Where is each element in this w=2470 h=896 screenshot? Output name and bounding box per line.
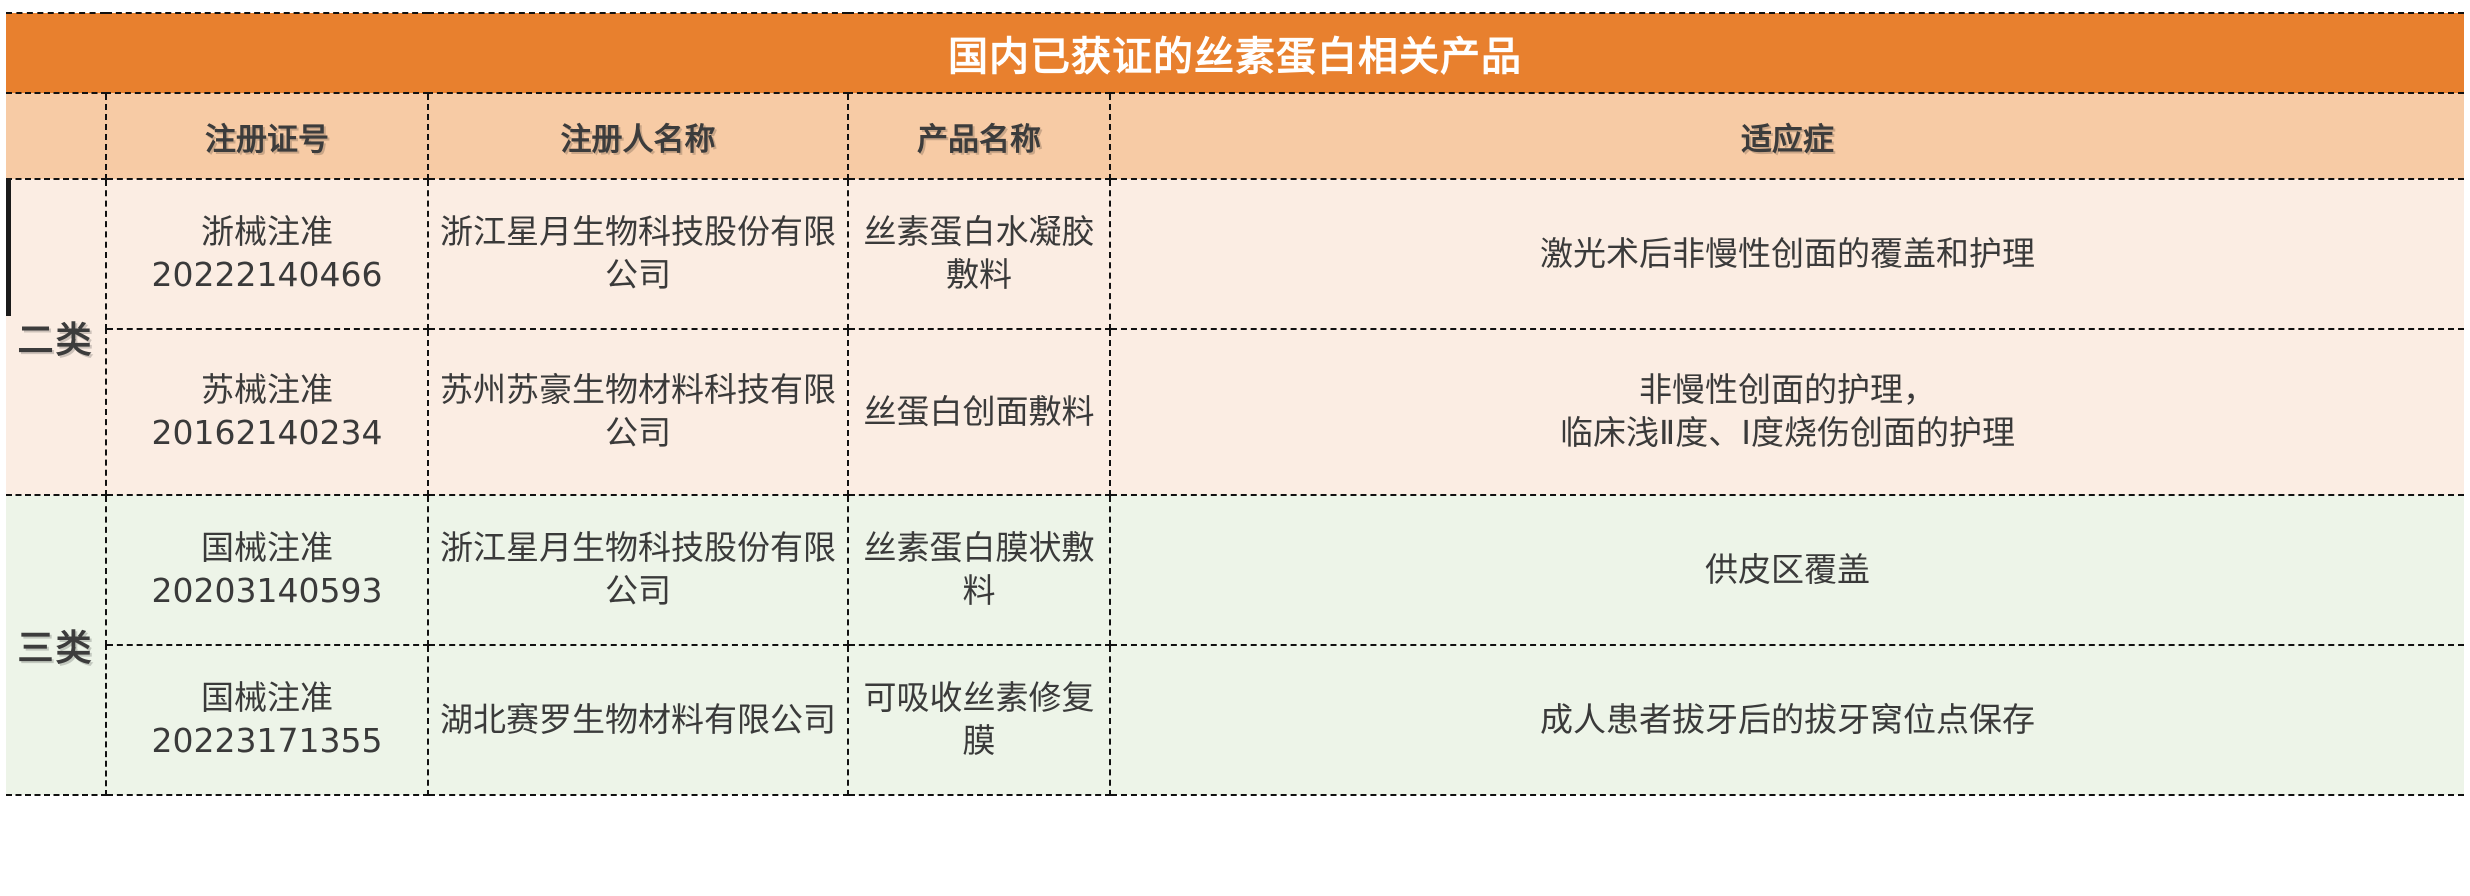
table-header-row: 注册证号 注册人名称 产品名称 适应症 — [6, 93, 2464, 179]
indication-line-1: 成人患者拔牙后的拔牙窝位点保存 — [1121, 699, 2454, 742]
product-table-container: 国内已获证的丝素蛋白相关产品 注册证号 注册人名称 产品名称 适应症 二类 浙械… — [0, 12, 2470, 896]
table-title-row: 国内已获证的丝素蛋白相关产品 — [6, 13, 2464, 93]
cell-registration-no: 国械注准20223171355 — [106, 645, 428, 795]
category-label-class-3: 三类 — [6, 495, 106, 795]
indication-line-1: 非慢性创面的护理， — [1121, 369, 2454, 412]
cell-indication: 激光术后非慢性创面的覆盖和护理 — [1110, 179, 2464, 329]
header-product-name: 产品名称 — [848, 93, 1110, 179]
cell-product-name: 丝素蛋白膜状敷料 — [848, 495, 1110, 645]
cell-indication: 非慢性创面的护理， 临床浅Ⅱ度、Ⅰ度烧伤创面的护理 — [1110, 329, 2464, 495]
cell-registrant: 苏州苏豪生物材料科技有限公司 — [428, 329, 848, 495]
left-accent-bar — [6, 178, 11, 316]
cell-registration-no: 国械注准20203140593 — [106, 495, 428, 645]
cell-indication: 成人患者拔牙后的拔牙窝位点保存 — [1110, 645, 2464, 795]
header-corner-cell — [6, 93, 106, 179]
indication-line-1: 激光术后非慢性创面的覆盖和护理 — [1121, 233, 2454, 276]
indication-line-2: 临床浅Ⅱ度、Ⅰ度烧伤创面的护理 — [1121, 412, 2454, 455]
indication-line-1: 供皮区覆盖 — [1121, 549, 2454, 592]
cell-registrant: 湖北赛罗生物材料有限公司 — [428, 645, 848, 795]
cell-product-name: 丝素蛋白水凝胶敷料 — [848, 179, 1110, 329]
cell-indication: 供皮区覆盖 — [1110, 495, 2464, 645]
category-label-class-2: 二类 — [6, 179, 106, 495]
cell-product-name: 可吸收丝素修复膜 — [848, 645, 1110, 795]
header-registrant: 注册人名称 — [428, 93, 848, 179]
certified-silk-fibroin-products-table: 国内已获证的丝素蛋白相关产品 注册证号 注册人名称 产品名称 适应症 二类 浙械… — [6, 12, 2464, 796]
cell-registration-no: 苏械注准20162140234 — [106, 329, 428, 495]
table-row: 三类 国械注准20203140593 浙江星月生物科技股份有限公司 丝素蛋白膜状… — [6, 495, 2464, 645]
cell-registration-no: 浙械注准20222140466 — [106, 179, 428, 329]
header-indication: 适应症 — [1110, 93, 2464, 179]
header-registration-no: 注册证号 — [106, 93, 428, 179]
cell-registrant: 浙江星月生物科技股份有限公司 — [428, 179, 848, 329]
table-row: 二类 浙械注准20222140466 浙江星月生物科技股份有限公司 丝素蛋白水凝… — [6, 179, 2464, 329]
table-row: 国械注准20223171355 湖北赛罗生物材料有限公司 可吸收丝素修复膜 成人… — [6, 645, 2464, 795]
table-row: 苏械注准20162140234 苏州苏豪生物材料科技有限公司 丝蛋白创面敷料 非… — [6, 329, 2464, 495]
cell-registrant: 浙江星月生物科技股份有限公司 — [428, 495, 848, 645]
cell-product-name: 丝蛋白创面敷料 — [848, 329, 1110, 495]
page-title: 国内已获证的丝素蛋白相关产品 — [6, 13, 2464, 93]
